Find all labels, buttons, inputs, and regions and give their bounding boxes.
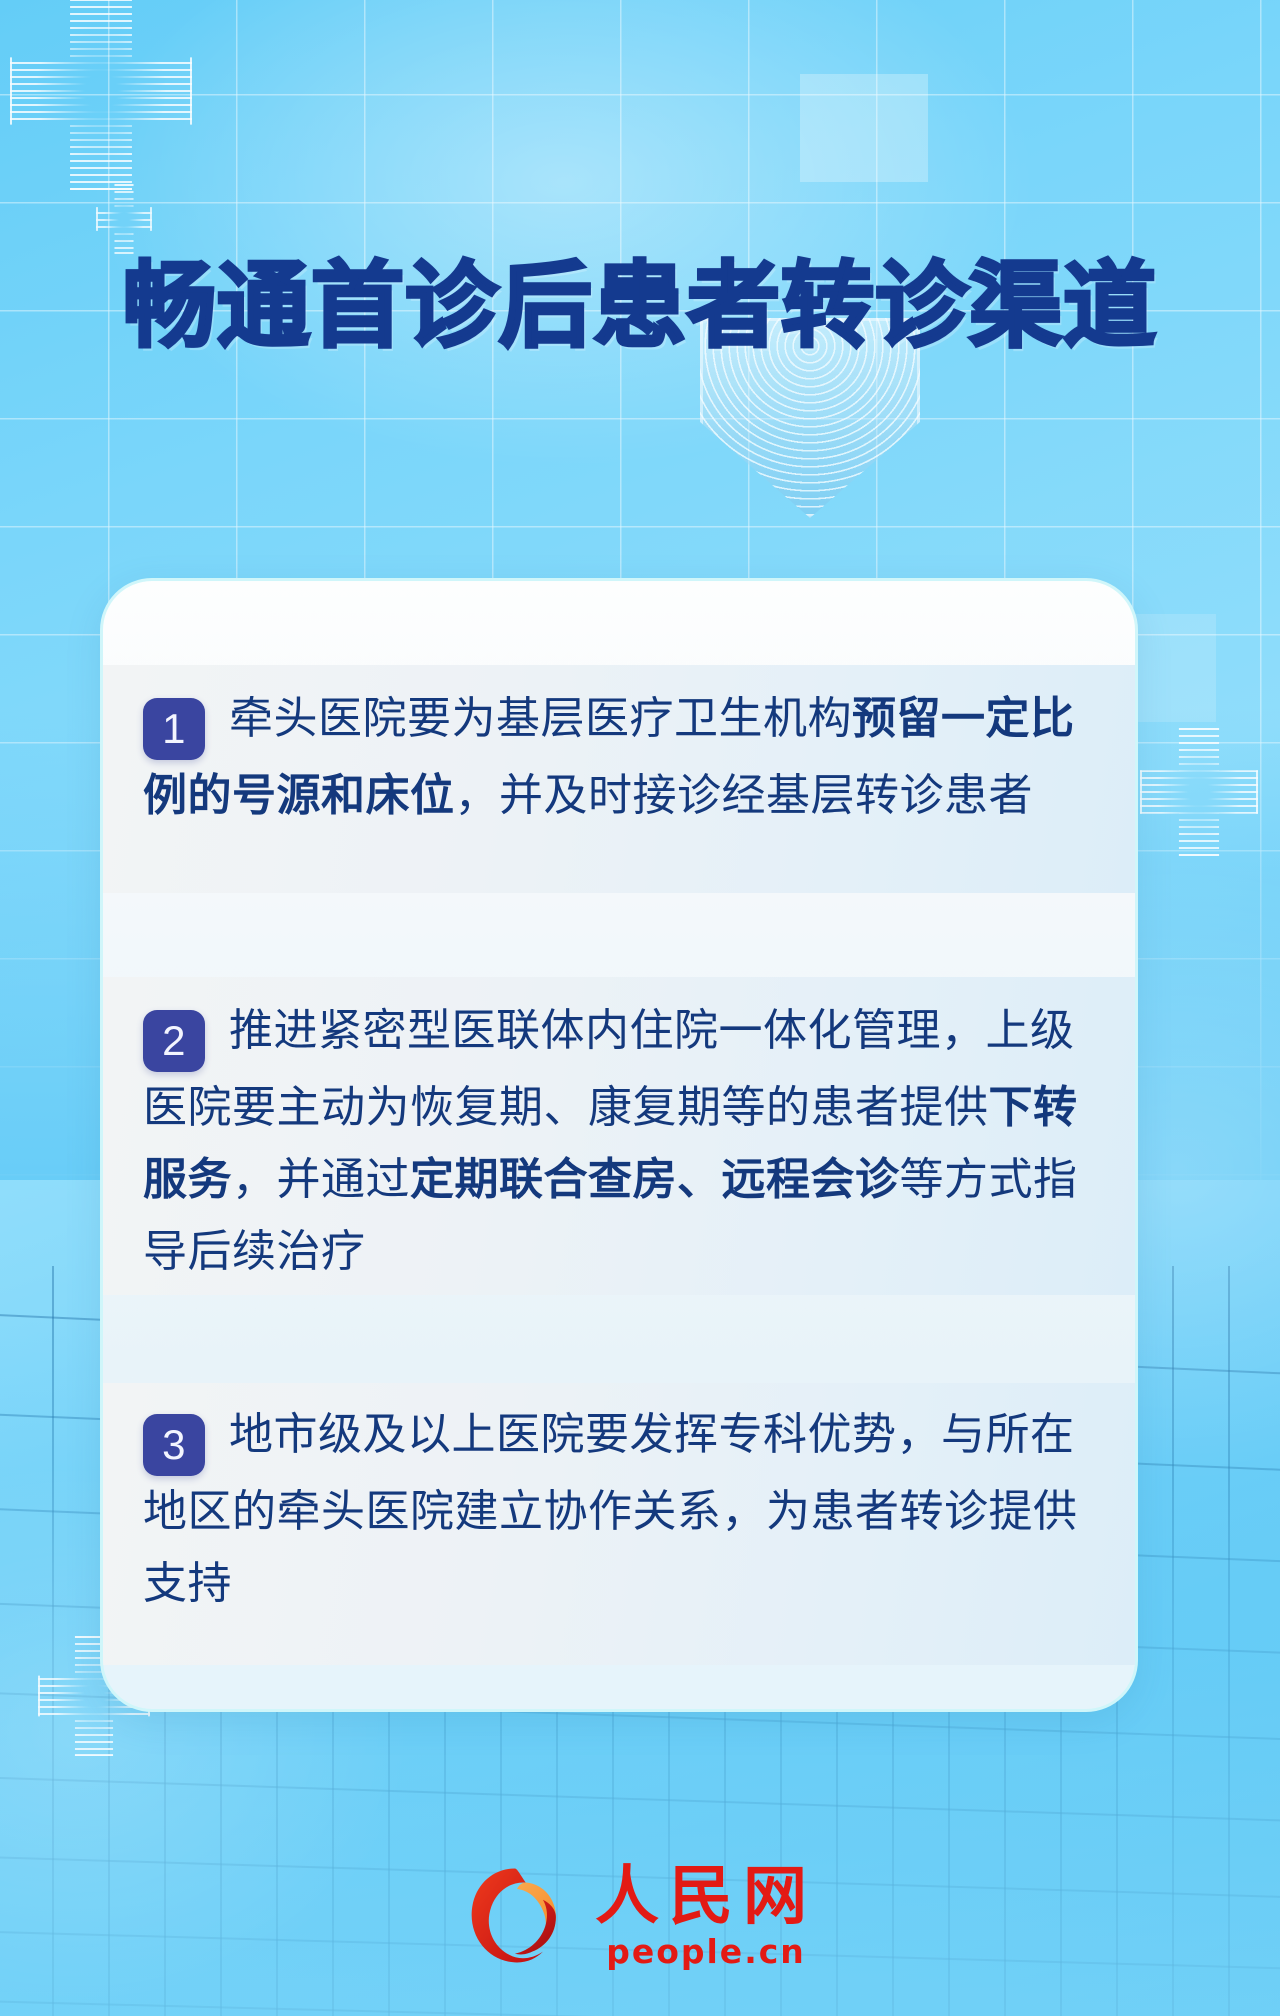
item-text: 推进紧密型医联体内住院一体化管理，上级医院要主动为恢复期、康复期等的患者提供下转…: [143, 1006, 1078, 1276]
page-title: 畅通首诊后患者转诊渠道: [0, 258, 1280, 355]
logo-name-cn: 人民网: [595, 1865, 817, 1929]
logo-wordmark: 人民网 people.cn: [595, 1865, 817, 1968]
item-text: 牵头医院要为基层医疗卫生机构预留一定比例的号源和床位，并及时接诊经基层转诊患者: [143, 694, 1075, 820]
item-number-badge: 3: [143, 1414, 205, 1476]
list-item: 1牵头医院要为基层医疗卫生机构预留一定比例的号源和床位，并及时接诊经基层转诊患者: [143, 683, 1095, 832]
emphasis-text: 定期联合查房、远程会诊: [410, 1155, 900, 1204]
site-logo: 人民网 people.cn: [0, 1862, 1280, 1970]
item-text: 地市级及以上医院要发挥专科优势，与所在地区的牵头医院建立协作关系，为患者转诊提供…: [143, 1410, 1078, 1608]
medical-cross-icon: [1140, 728, 1258, 856]
plain-text: 牵头医院要为基层医疗卫生机构: [229, 694, 852, 743]
cross-outline: [10, 0, 192, 190]
content-card: 1牵头医院要为基层医疗卫生机构预留一定比例的号源和床位，并及时接诊经基层转诊患者…: [100, 578, 1138, 1712]
item-number-badge: 2: [143, 1010, 205, 1072]
list-item: 3地市级及以上医院要发挥专科优势，与所在地区的牵头医院建立协作关系，为患者转诊提…: [143, 1399, 1095, 1620]
plain-text: 推进紧密型医联体内住院一体化管理，上级医院要主动为恢复期、康复期等的患者提供: [143, 1006, 1075, 1132]
cross-outline: [96, 184, 152, 254]
poster-root: 畅通首诊后患者转诊渠道 1牵头医院要为基层医疗卫生机构预留一定比例的号源和床位，…: [0, 0, 1280, 2016]
plain-text: ，并及时接诊经基层转诊患者: [455, 771, 1034, 820]
plain-text: ，并通过: [232, 1155, 410, 1204]
plain-text: 地市级及以上医院要发挥专科优势，与所在地区的牵头医院建立协作关系，为患者转诊提供…: [143, 1410, 1078, 1608]
medical-cross-icon: [10, 0, 192, 190]
list-item: 2推进紧密型医联体内住院一体化管理，上级医院要主动为恢复期、康复期等的患者提供下…: [143, 995, 1095, 1288]
cross-outline: [1140, 728, 1258, 856]
logo-url: people.cn: [606, 1935, 806, 1968]
people-cn-swoosh-icon: [463, 1862, 571, 1970]
medical-cross-icon: [96, 184, 152, 254]
item-number-badge: 1: [143, 698, 205, 760]
